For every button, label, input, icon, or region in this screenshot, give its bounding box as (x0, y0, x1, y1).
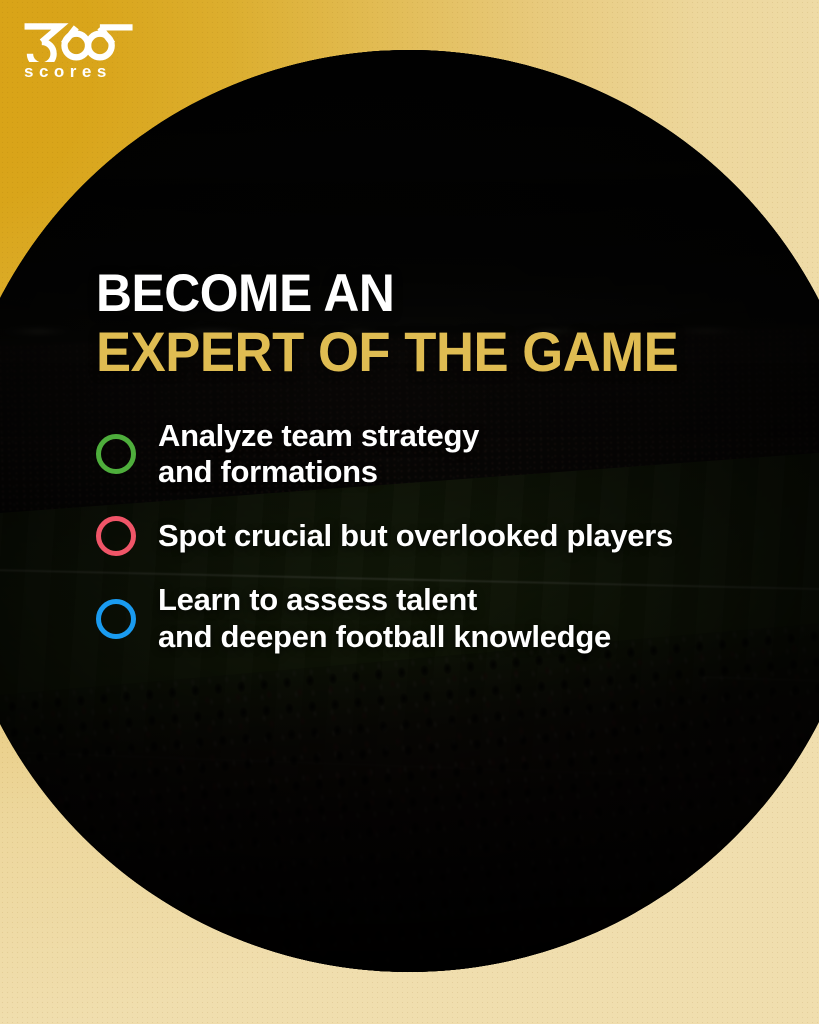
blue-ring-bullet-icon (96, 599, 136, 639)
list-item-line-2: and deepen football knowledge (158, 619, 611, 655)
list-item: Spot crucial but overlooked players (96, 516, 796, 556)
benefit-list: Analyze team strategy and formations Spo… (96, 418, 796, 655)
list-item: Analyze team strategy and formations (96, 418, 796, 491)
headline-line-2: EXPERT OF THE GAME (96, 325, 754, 380)
list-item-line-1: Analyze team strategy (158, 418, 479, 454)
list-item-line-2: and formations (158, 454, 479, 490)
list-item-label: Analyze team strategy and formations (158, 418, 479, 491)
page-title: BECOME AN EXPERT OF THE GAME (96, 268, 754, 380)
red-ring-bullet-icon (96, 516, 136, 556)
list-item: Learn to assess talent and deepen footba… (96, 582, 796, 655)
list-item-label: Learn to assess talent and deepen footba… (158, 582, 611, 655)
list-item-line-1: Learn to assess talent (158, 582, 611, 618)
green-ring-bullet-icon (96, 434, 136, 474)
promo-poster: scores BECOME AN EXPERT OF THE GAME Anal… (0, 0, 819, 1024)
brand-logo[interactable]: scores (20, 20, 150, 80)
365scores-logo-icon (20, 20, 138, 62)
list-item-label: Spot crucial but overlooked players (158, 518, 673, 554)
list-item-line-1: Spot crucial but overlooked players (158, 518, 673, 554)
brand-logo-wordmark: scores (24, 63, 150, 80)
headline-line-1: BECOME AN (96, 268, 754, 320)
promo-content: BECOME AN EXPERT OF THE GAME Analyze tea… (96, 268, 796, 681)
